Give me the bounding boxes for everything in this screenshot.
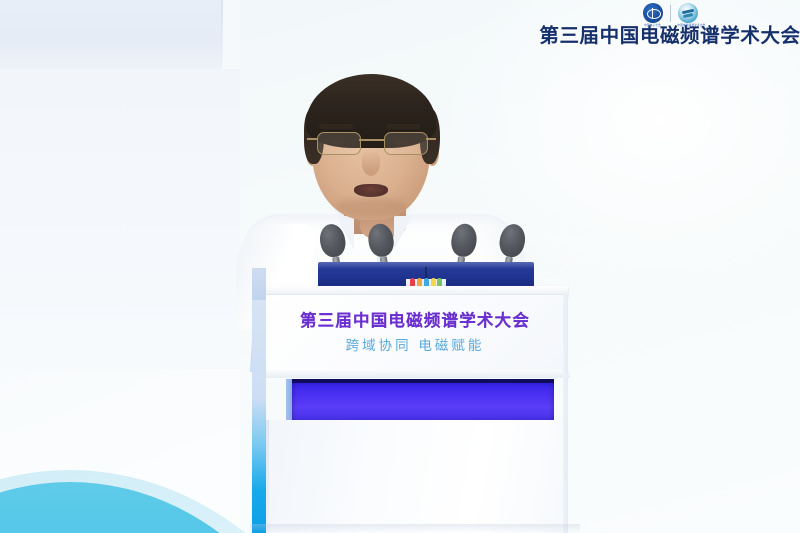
podium-body: [266, 420, 566, 533]
backdrop-upper-left-panel: [0, 0, 222, 69]
speaker-eyebrow-right: [386, 124, 420, 129]
backdrop-left: [0, 69, 240, 369]
speaker-eyebrow-left: [319, 124, 353, 129]
podium-sign: 第三届中国电磁频谱学术大会 跨域协同 电磁赋能: [262, 294, 568, 372]
speaker-nose: [362, 150, 380, 176]
podium-accent-band: [292, 379, 554, 420]
banner-title: 第三届中国电磁频谱学术大会: [539, 26, 800, 46]
accent-strip-upper: [252, 268, 266, 304]
logo-divider: [670, 5, 671, 22]
podium-body-left-edge: [266, 420, 269, 533]
logo-caption-left: 中国电子学会: [643, 23, 663, 27]
podium-right-edge: [563, 294, 568, 533]
logo-caption-right: 中国电磁频谱学术大会: [678, 23, 698, 27]
podium-mid-shelf: [258, 370, 570, 378]
banner-logo-row: 中国电子学会 中国电磁频谱学术大会: [643, 2, 698, 24]
podium-sign-subtitle: 跨域协同 电磁赋能: [346, 339, 485, 354]
microphone-head-icon: [497, 222, 527, 259]
china-institute-electronics-logo: 中国电子学会: [643, 3, 663, 23]
microphone-head-icon: [366, 222, 395, 258]
speaker-mouth: [354, 184, 388, 197]
speaker-chin-shadow: [336, 198, 408, 216]
spectrum-society-logo: 中国电磁频谱学术大会: [678, 3, 698, 23]
podium-floor-shadow: [250, 524, 580, 533]
microphone-head-icon: [449, 222, 478, 258]
conference-banner: 中国电子学会 中国电磁频谱学术大会 第三届中国电磁频谱学术大会: [544, 2, 796, 56]
microphone-head-icon: [317, 222, 347, 259]
podium-sign-title: 第三届中国电磁频谱学术大会: [300, 312, 530, 330]
conference-photo-stage: 中国电子学会 中国电磁频谱学术大会 第三届中国电磁频谱学术大会: [0, 0, 800, 533]
podium-band-shadow: [292, 379, 554, 383]
accent-strip-vertical: [252, 300, 266, 533]
